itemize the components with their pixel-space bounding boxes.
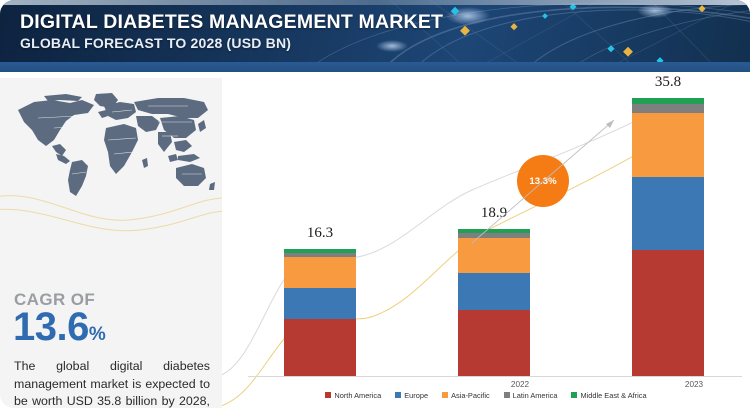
bar-segment-asia-pacific[interactable]: [458, 238, 530, 273]
page-title: DIGITAL DIABETES MANAGEMENT MARKET: [20, 11, 443, 34]
bar-segment-north-america[interactable]: [284, 319, 356, 376]
infographic-root: DIGITAL DIABETES MANAGEMENT MARKET GLOBA…: [0, 0, 750, 412]
world-map-icon: [8, 88, 216, 200]
page-subtitle: GLOBAL FORECAST TO 2028 (USD BN): [20, 34, 443, 53]
legend-swatch-icon: [442, 392, 448, 398]
chart-legend: North AmericaEuropeAsia-PacificLatin Ame…: [222, 388, 750, 402]
bar-segment-latin-america[interactable]: [632, 104, 704, 113]
legend-label: Asia-Pacific: [451, 391, 490, 400]
cagr-number: 13.6: [13, 305, 89, 349]
summary-panel: CAGR OF 13.6% The global digital diabete…: [0, 78, 222, 408]
legend-label: Latin America: [513, 391, 558, 400]
chart-panel: 16.318.935.8 13.3% 202220232028: [222, 78, 750, 412]
legend-item-latin-america[interactable]: Latin America: [504, 391, 558, 400]
header-banner: DIGITAL DIABETES MANAGEMENT MARKET GLOBA…: [0, 0, 750, 72]
legend-label: Europe: [404, 391, 428, 400]
bar-segment-asia-pacific[interactable]: [632, 113, 704, 177]
bar-value-label-2028: 35.8: [628, 74, 708, 91]
legend-item-middle-east-africa[interactable]: Middle East & Africa: [571, 391, 646, 400]
bar-segment-europe[interactable]: [458, 273, 530, 310]
summary-description: The global digital diabetes management m…: [14, 358, 210, 412]
bar-value-label-2023: 18.9: [454, 205, 534, 222]
bar-segment-europe[interactable]: [632, 177, 704, 250]
x-axis-line: [248, 376, 742, 377]
legend-swatch-icon: [571, 392, 577, 398]
legend-label: North America: [334, 391, 381, 400]
bar-2022[interactable]: [284, 249, 356, 376]
header-top-sheen: [0, 0, 750, 5]
cagr-percent-sign: %: [89, 324, 105, 345]
header-title-block: DIGITAL DIABETES MANAGEMENT MARKET GLOBA…: [20, 11, 443, 53]
cagr-callout-bubble: 13.3%: [517, 155, 569, 207]
legend-item-asia-pacific[interactable]: Asia-Pacific: [442, 391, 490, 400]
bar-segment-asia-pacific[interactable]: [284, 257, 356, 287]
cagr-value: 13.6%: [13, 306, 105, 356]
bar-2028[interactable]: [632, 98, 704, 376]
bar-segment-north-america[interactable]: [632, 250, 704, 376]
legend-label: Middle East & Africa: [580, 391, 646, 400]
legend-item-north-america[interactable]: North America: [325, 391, 381, 400]
legend-swatch-icon: [325, 392, 331, 398]
legend-swatch-icon: [395, 392, 401, 398]
bar-value-label-2022: 16.3: [280, 225, 360, 242]
stacked-bar-chart: 16.318.935.8: [248, 84, 740, 376]
legend-item-europe[interactable]: Europe: [395, 391, 428, 400]
bar-2023[interactable]: [458, 229, 530, 376]
legend-swatch-icon: [504, 392, 510, 398]
header-accent-strip: [0, 62, 750, 72]
bar-segment-europe[interactable]: [284, 288, 356, 320]
cagr-callout-label: 13.3%: [529, 176, 556, 187]
bar-segment-north-america[interactable]: [458, 310, 530, 376]
